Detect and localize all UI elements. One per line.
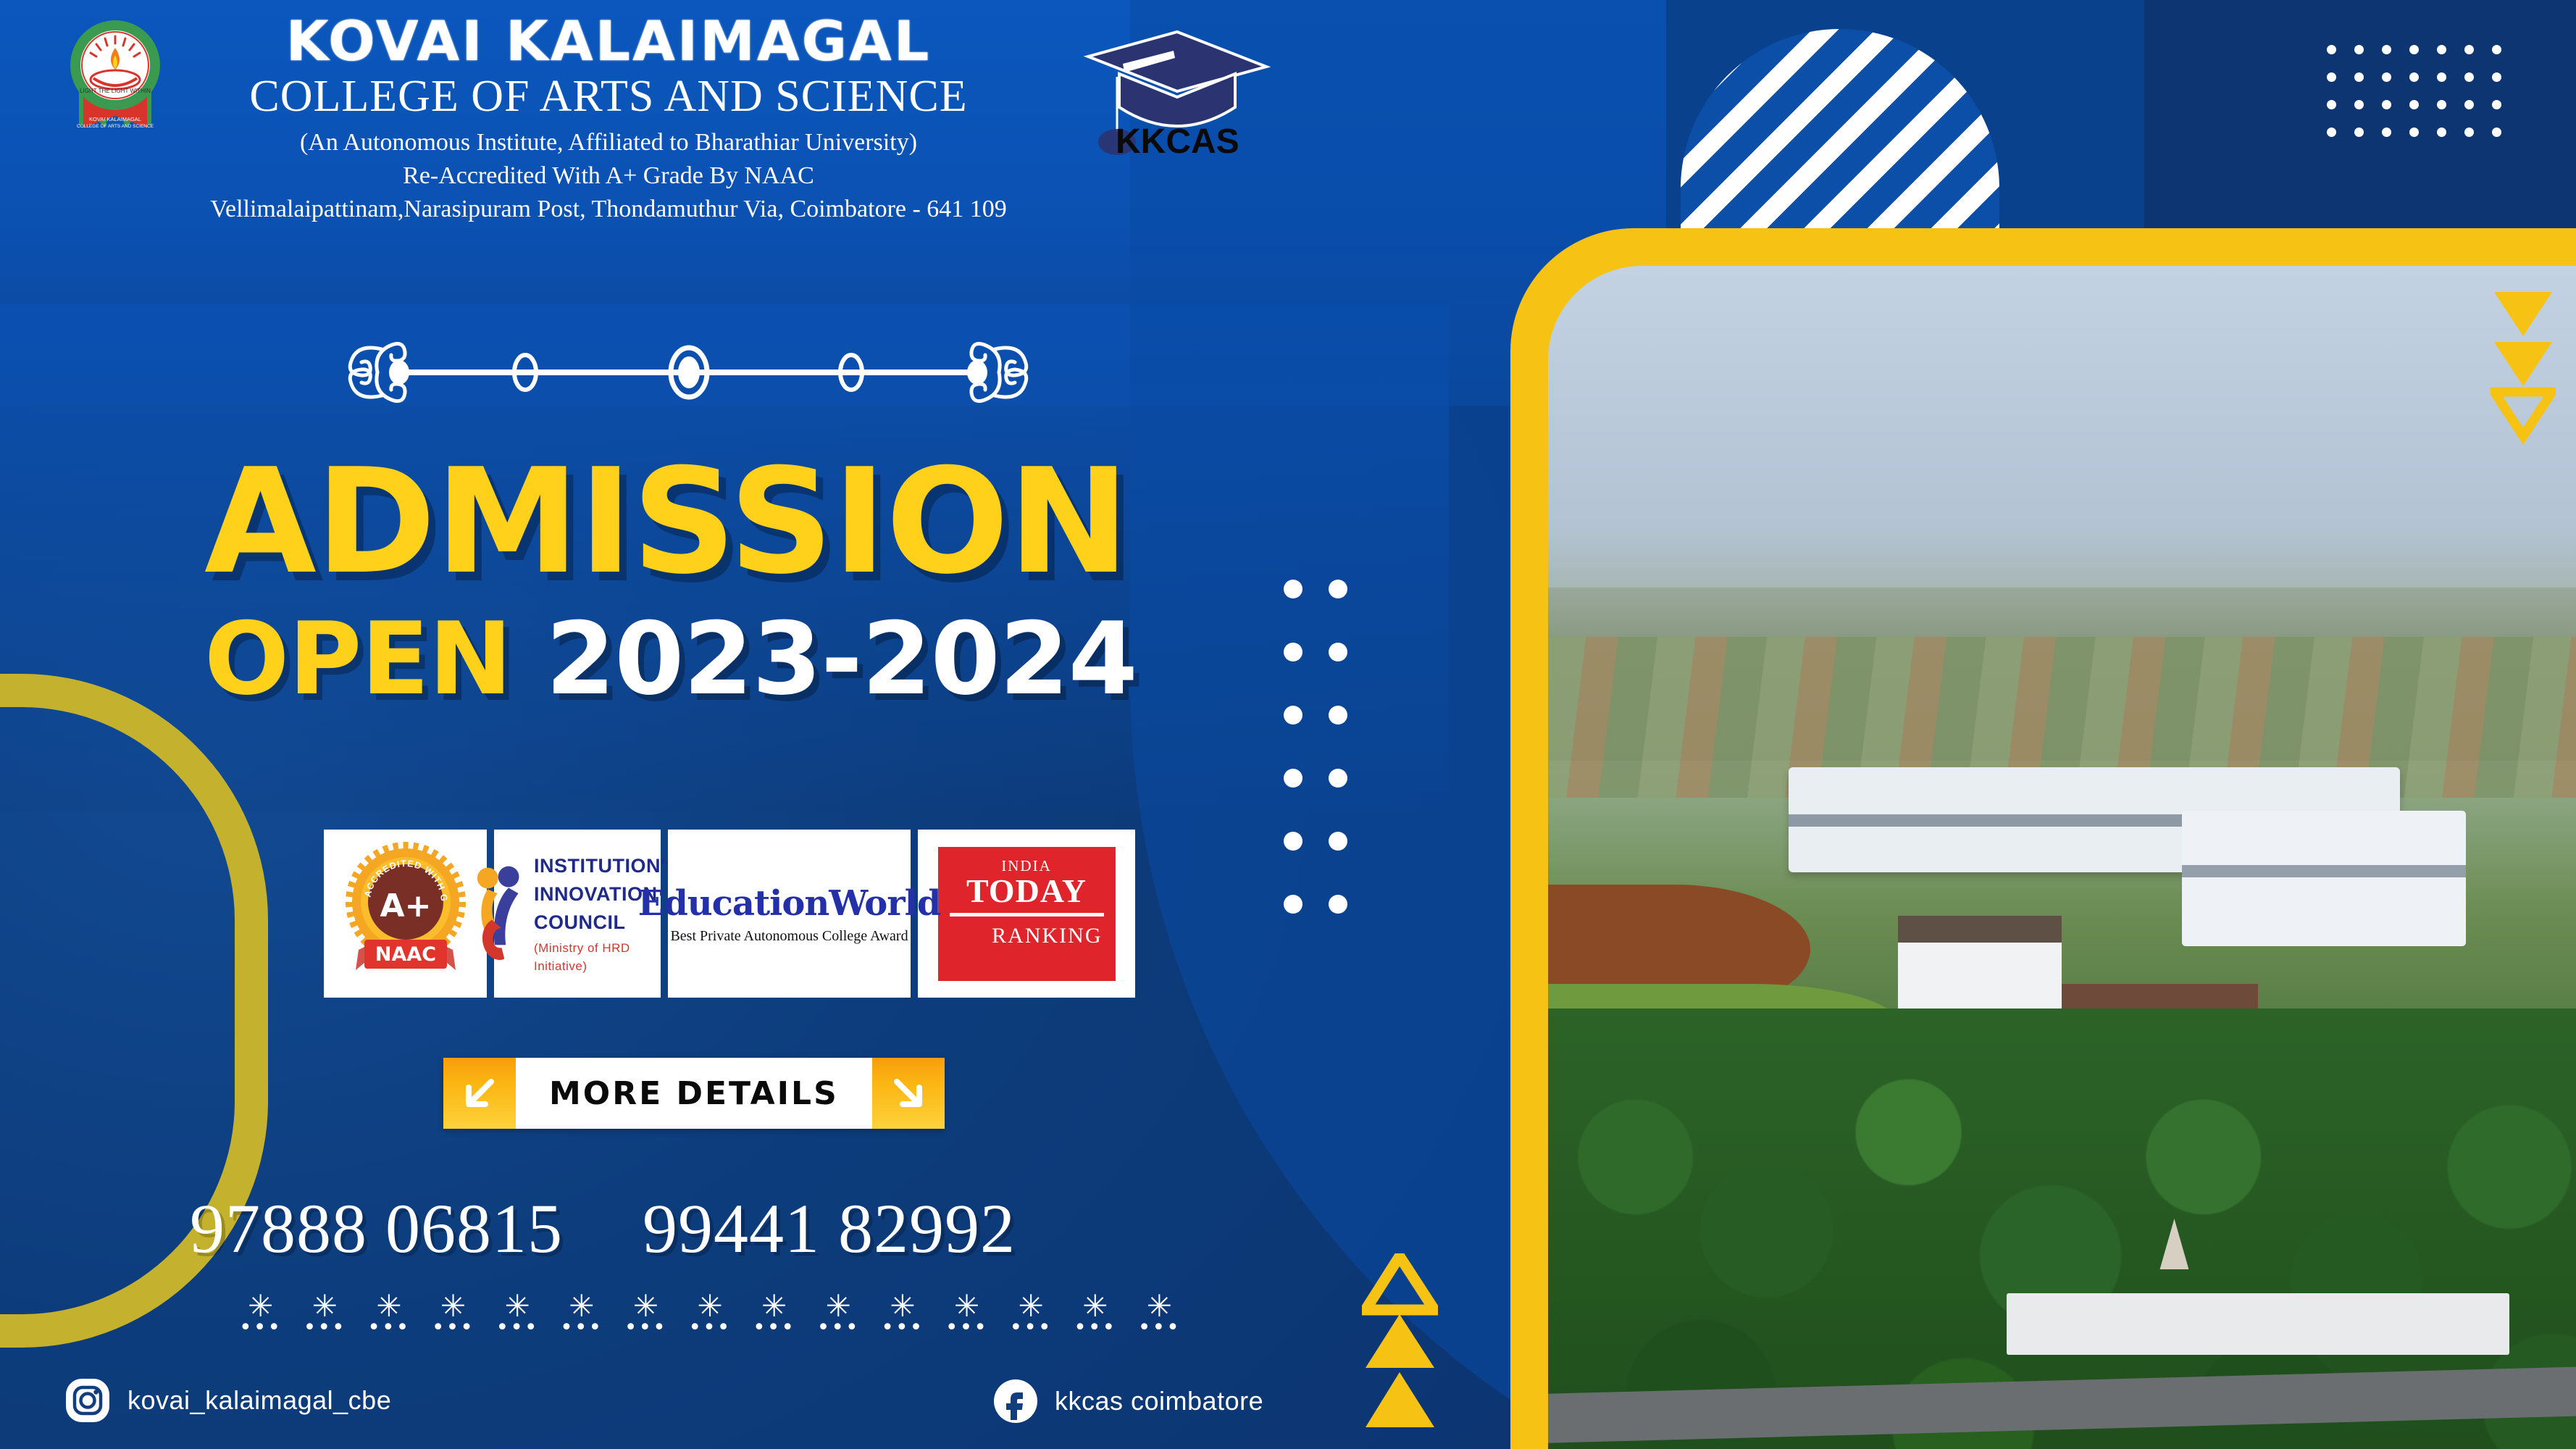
campus-photo-frame [1510, 228, 2576, 1449]
svg-text:COLLEGE OF ARTS AND SCIENCE: COLLEGE OF ARTS AND SCIENCE [77, 124, 154, 129]
kkcas-abbreviation: KKCAS [1116, 122, 1239, 162]
star-dot-decoration: ✳••• ✳••• ✳••• ✳••• ✳••• ✳••• ✳••• ✳••• … [239, 1297, 1181, 1340]
badge-education-world: EducationWorld Best Private Autonomous C… [668, 830, 911, 998]
india-today-main: TODAY [947, 875, 1107, 907]
dot-column-decoration [1284, 580, 1373, 958]
headline-open: OPEN [204, 601, 511, 717]
header-title-block: KOVAI KALAIMAGAL COLLEGE OF ARTS AND SCI… [185, 13, 1032, 226]
college-logo-seal: LIGHT THE LIGHT WITHIN KOVAI KALAIMAGAL … [62, 17, 169, 135]
dot-grid-top-right [2327, 45, 2519, 155]
triangles-up-decoration [1362, 1253, 1438, 1435]
triangles-down-decoration [2491, 288, 2556, 455]
badge-india-today: INDIA TODAY RANKING [918, 830, 1135, 998]
education-world-logo: EducationWorld [638, 883, 941, 924]
campus-photo [1548, 266, 2576, 1449]
instagram-icon[interactable] [64, 1377, 112, 1424]
social-footer: kovai_kalaimagal_cbe kkcas coimbatore [0, 1377, 1304, 1442]
svg-text:A+: A+ [380, 888, 431, 924]
svg-text:LIGHT THE LIGHT WITHIN: LIGHT THE LIGHT WITHIN [80, 88, 151, 94]
facebook-link[interactable]: kkcas coimbatore [992, 1378, 1263, 1424]
college-address: Vellimalaipattinam,Narasipuram Post, Tho… [185, 193, 1032, 226]
india-today-box: INDIA TODAY RANKING [938, 847, 1116, 981]
facebook-handle[interactable]: kkcas coimbatore [1055, 1386, 1263, 1416]
headline-academic-year: 2023-2024 [545, 601, 1137, 717]
headline-open-years: OPEN 2023-2024 [204, 609, 1218, 709]
svg-text:NAAC: NAAC [375, 943, 435, 966]
more-details-label[interactable]: MORE DETAILS [516, 1058, 872, 1129]
headline-admission: ADMISSION [204, 453, 1218, 592]
badge-naac: ACCREDITED WITH GRADE A+ NAAC [324, 830, 487, 998]
phone-number-1[interactable]: 97888 06815 [190, 1188, 563, 1269]
headline-block: ADMISSION OPEN 2023-2024 [204, 453, 1218, 709]
iic-line-1: INSTITUTION'S [534, 852, 681, 880]
india-today-rule [950, 913, 1104, 916]
iic-ministry: (Ministry of HRD Initiative) [534, 940, 681, 975]
badge-iic: INSTITUTION'S INNOVATION COUNCIL (Minist… [494, 830, 661, 998]
instagram-handle[interactable]: kovai_kalaimagal_cbe [127, 1385, 391, 1416]
education-world-caption: Best Private Autonomous College Award [638, 928, 941, 945]
arrow-down-right-icon[interactable] [872, 1058, 945, 1129]
college-accreditation: Re-Accredited With A+ Grade By NAAC [185, 159, 1032, 193]
contact-phone-numbers: 97888 06815 99441 82992 [190, 1188, 1016, 1269]
svg-text:KOVAI KALAIMAGAL: KOVAI KALAIMAGAL [89, 116, 141, 122]
india-today-sub: RANKING [947, 924, 1107, 948]
ornamental-divider [330, 339, 1047, 406]
arrow-down-left-icon[interactable] [443, 1058, 516, 1129]
accreditation-badges: ACCREDITED WITH GRADE A+ NAAC [324, 830, 1135, 998]
college-name: KOVAI KALAIMAGAL [185, 13, 1032, 70]
phone-number-2[interactable]: 99441 82992 [643, 1188, 1016, 1269]
header: LIGHT THE LIGHT WITHIN KOVAI KALAIMAGAL … [0, 0, 1275, 226]
poster-canvas: LIGHT THE LIGHT WITHIN KOVAI KALAIMAGAL … [0, 0, 2576, 1449]
striped-half-circle-decoration [1681, 29, 1999, 232]
naac-seal-icon: ACCREDITED WITH GRADE A+ NAAC [337, 841, 474, 986]
college-affiliation: (An Autonomous Institute, Affiliated to … [185, 126, 1032, 159]
more-details-button[interactable]: MORE DETAILS [443, 1058, 945, 1129]
instagram-link[interactable]: kovai_kalaimagal_cbe [64, 1377, 391, 1424]
facebook-icon[interactable] [992, 1378, 1039, 1424]
college-type: COLLEGE OF ARTS AND SCIENCE [185, 72, 1032, 121]
iic-logo-icon [474, 859, 524, 968]
